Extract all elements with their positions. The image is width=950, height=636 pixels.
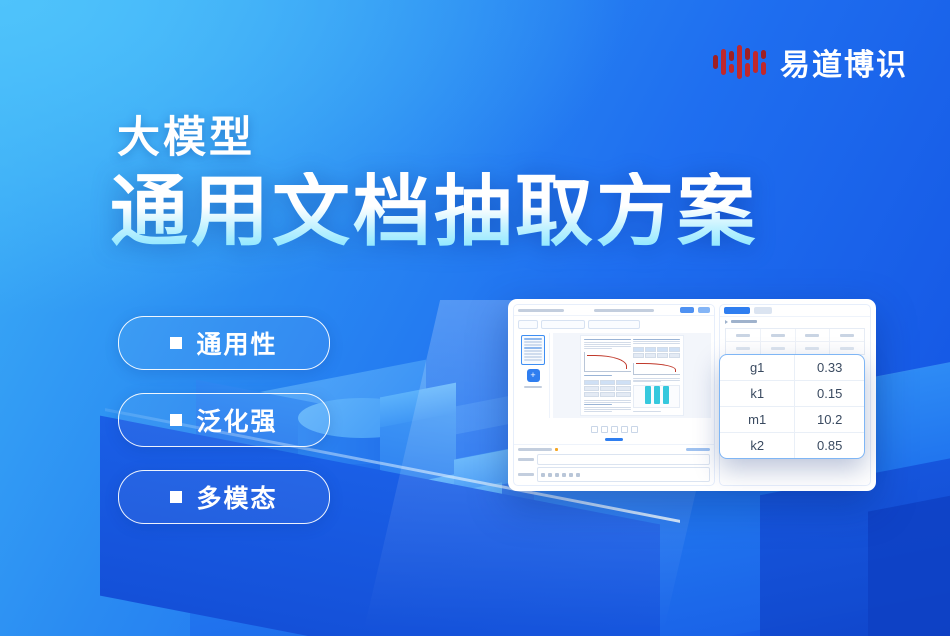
italic-icon[interactable] (548, 473, 552, 477)
square-bullet-icon (170, 414, 182, 426)
table-row: k1 0.15 (720, 381, 864, 407)
image-icon[interactable] (576, 473, 580, 477)
table-cell (830, 342, 864, 354)
form-rich-text-input[interactable] (537, 467, 710, 482)
list-icon[interactable] (562, 473, 566, 477)
feature-pill-label: 多模态 (196, 479, 277, 515)
page-indicator (605, 438, 623, 441)
zoom-out-icon[interactable] (591, 426, 598, 433)
table-cell (761, 342, 796, 354)
table-cell (726, 342, 761, 354)
table-header-cell (761, 329, 796, 342)
square-bullet-icon (170, 337, 182, 349)
zoom-in-icon[interactable] (601, 426, 608, 433)
table-header-row (726, 329, 864, 342)
promo-banner: 易道博识 大模型 通用文档抽取方案 通用性 泛化强 多模态 (0, 0, 950, 636)
table-cell-value: 0.85 (795, 433, 864, 458)
toolbar-select[interactable] (518, 320, 538, 329)
titlebar-subtitle (594, 309, 654, 312)
form-label (518, 473, 534, 476)
document-figure-diagram (633, 385, 680, 408)
upload-plus-icon[interactable]: + (527, 369, 540, 382)
titlebar-action-primary[interactable] (680, 307, 694, 313)
extraction-form (514, 444, 714, 485)
table-row (726, 342, 864, 354)
titlebar-action-secondary[interactable] (698, 307, 710, 313)
hero-kicker: 大模型 (117, 103, 255, 165)
table-cell-key: m1 (720, 407, 795, 432)
page-zoom-controls[interactable] (514, 424, 714, 433)
form-row-content (518, 467, 710, 482)
toolbar-template-select[interactable] (588, 320, 640, 329)
feature-pill-label: 通用性 (196, 325, 277, 361)
required-marker-icon (555, 448, 558, 451)
bold-icon[interactable] (541, 473, 545, 477)
tab-structured-result[interactable] (724, 307, 750, 314)
form-label (518, 458, 534, 461)
table-cell-value: 0.33 (795, 355, 864, 380)
document-viewer-panel: + (513, 304, 715, 486)
chevron-right-icon[interactable] (725, 320, 728, 324)
form-text-input[interactable] (537, 454, 710, 465)
breadcrumb (518, 309, 564, 312)
table-header-cell (726, 329, 761, 342)
table-cell-key: k2 (720, 433, 795, 458)
result-table (725, 328, 865, 355)
table-row: m1 10.2 (720, 407, 864, 433)
upload-label (524, 386, 542, 388)
document-page (580, 335, 684, 416)
table-header-cell (796, 329, 831, 342)
table-cell-key: g1 (720, 355, 795, 380)
result-section-header[interactable] (720, 317, 870, 326)
table-row: g1 0.33 (720, 355, 864, 381)
table-cell (796, 342, 831, 354)
fit-page-icon[interactable] (621, 426, 628, 433)
table-cell-key: k1 (720, 381, 795, 406)
table-row: k2 0.85 (720, 433, 864, 458)
feature-pill-label: 泛化强 (196, 402, 277, 438)
table-cell-value: 10.2 (795, 407, 864, 432)
feature-pill-list: 通用性 泛化强 多模态 (118, 316, 330, 524)
fullscreen-icon[interactable] (631, 426, 638, 433)
waveform-logo-icon (713, 42, 766, 82)
scene-back-panel-shadow (868, 488, 950, 636)
table-header-cell (830, 329, 864, 342)
result-tabbar (720, 305, 870, 317)
tab-raw-json[interactable] (754, 307, 772, 314)
form-row-title (518, 454, 710, 465)
toolbar-field-type[interactable] (541, 320, 585, 329)
link-icon[interactable] (569, 473, 573, 477)
feature-pill-2[interactable]: 多模态 (118, 470, 330, 524)
table-cell-value: 0.15 (795, 381, 864, 406)
underline-icon[interactable] (555, 473, 559, 477)
app-titlebar (514, 305, 714, 316)
brand-name: 易道博识 (780, 40, 908, 84)
page-thumbnail[interactable] (521, 335, 545, 365)
feature-pill-0[interactable]: 通用性 (118, 316, 330, 370)
extracted-table-callout: g1 0.33 k1 0.15 m1 10.2 k2 0.85 (719, 354, 865, 459)
rotate-icon[interactable] (611, 426, 618, 433)
viewer-toolbar (514, 319, 714, 330)
form-section-header (518, 448, 710, 451)
hero-headline: 通用文档抽取方案 (110, 172, 758, 254)
result-section-title (731, 320, 757, 323)
page-thumbnail-sidebar: + (517, 333, 550, 418)
brand-logo: 易道博识 (713, 40, 908, 84)
feature-pill-1[interactable]: 泛化强 (118, 393, 330, 447)
square-bullet-icon (170, 491, 182, 503)
document-figure-chart (584, 352, 631, 371)
document-figure-table (584, 380, 631, 397)
document-canvas[interactable] (553, 333, 711, 418)
